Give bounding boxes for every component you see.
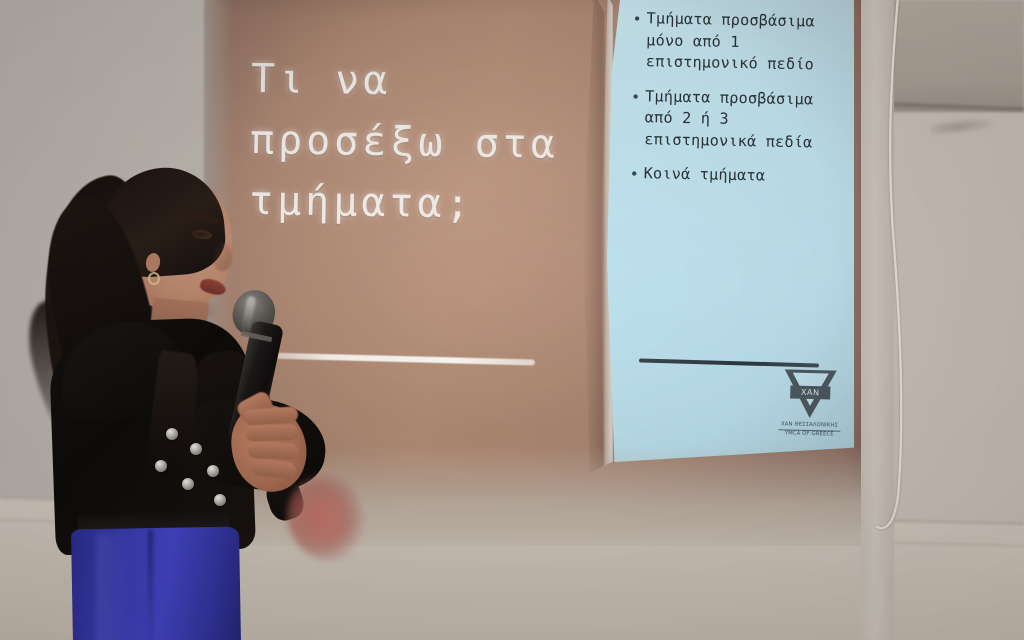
projection-screen: Τι να προσέξω στα τμήματα; • Τμήματα προ… [205, 0, 861, 546]
slide-title-underline [267, 352, 535, 365]
screen-bottom-fade [205, 446, 861, 546]
slide-content-panel: • Τμήματα προσβάσιμα μόνο από 1 επιστημο… [607, 0, 854, 462]
bullet-text: Τμήματα προσβάσιμα μόνο από 1 επιστημονι… [646, 8, 845, 77]
screen-left-fade [203, 0, 233, 546]
triangle-icon: ΧΑΝ [784, 369, 837, 420]
list-item: • Τμήματα προσβάσιμα από 2 ή 3 επιστημον… [630, 86, 843, 155]
slide-bullet-list: • Τμήματα προσβάσιμα μόνο από 1 επιστημο… [629, 8, 845, 203]
list-item: • Τμήματα προσβάσιμα μόνο από 1 επιστημο… [632, 8, 845, 77]
bullet-marker-icon: • [632, 8, 646, 31]
logo-monogram-text: ΧΑΝ [790, 386, 830, 400]
wall-right-column [860, 0, 894, 640]
ymca-triangle-logo: ΧΑΝ ΧΑΝ ΘΕΣΣΑΛΟΝΙΚΗΣ YMCA OF GREECE [778, 369, 842, 439]
slide-title: Τι να προσέξω στα τμήματα; [249, 49, 632, 237]
bullet-text: Τμήματα προσβάσιμα από 2 ή 3 επιστημονικ… [644, 86, 843, 155]
logo-caption-line1: ΧΑΝ ΘΕΣΣΑΛΟΝΙΚΗΣ [778, 421, 840, 430]
bullet-marker-icon: • [629, 163, 643, 186]
presentation-photo-scene: Τι να προσέξω στα τμήματα; • Τμήματα προ… [0, 0, 1024, 640]
slide-panel-divider [639, 358, 819, 367]
bullet-text: Κοινά τμήματα [643, 164, 841, 189]
logo-caption: ΧΑΝ ΘΕΣΣΑΛΟΝΙΚΗΣ YMCA OF GREECE [778, 421, 840, 439]
logo-caption-line2: YMCA OF GREECE [778, 429, 840, 440]
list-item: • Κοινά τμήματα [629, 163, 841, 189]
bullet-marker-icon: • [631, 86, 645, 109]
logo-monogram-bar: ΧΑΝ [790, 386, 830, 400]
